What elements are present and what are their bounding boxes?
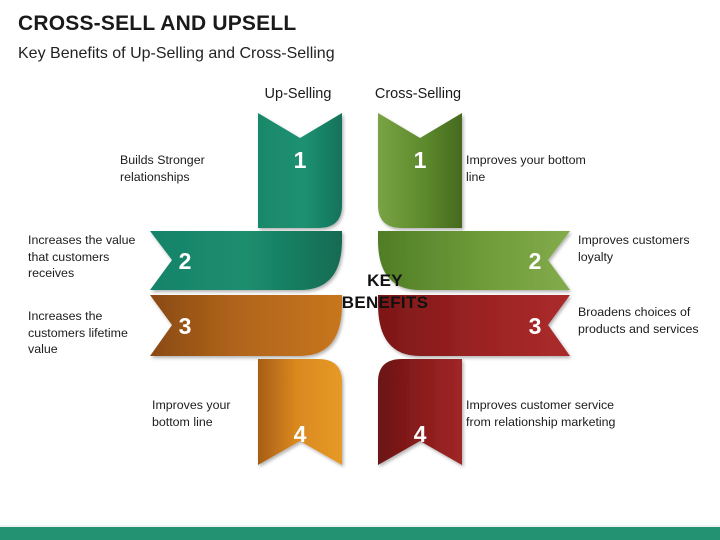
left-shape-1[interactable]: 1 <box>258 113 342 228</box>
right-label-3: Broadens choices of products and service… <box>578 304 703 337</box>
right-number-3: 3 <box>529 313 542 339</box>
right-shape-1[interactable]: 1 <box>378 113 462 228</box>
left-shape-2[interactable]: 2 <box>150 231 342 290</box>
left-label-3: Increases the customers lifetime value <box>28 308 148 358</box>
left-shape-3[interactable]: 3 <box>150 295 342 356</box>
center-label-line2: BENEFITS <box>330 292 440 314</box>
left-label-1: Builds Stronger relationships <box>120 152 250 185</box>
right-number-2: 2 <box>529 248 542 274</box>
right-shape-4[interactable]: 4 <box>378 359 462 465</box>
left-label-2: Increases the value that customers recei… <box>28 232 153 282</box>
left-number-3: 3 <box>179 313 192 339</box>
right-label-2: Improves customers loyalty <box>578 232 703 265</box>
center-label-line1: KEY <box>330 270 440 292</box>
left-number-1: 1 <box>294 147 307 173</box>
right-number-4: 4 <box>414 421 427 447</box>
left-number-2: 2 <box>179 248 192 274</box>
center-label: KEY BENEFITS <box>330 270 440 314</box>
footer-accent-bar <box>0 527 720 540</box>
right-label-1: Improves your bottom line <box>466 152 596 185</box>
right-label-4: Improves customer service from relations… <box>466 397 626 430</box>
left-label-4: Improves your bottom line <box>152 397 262 430</box>
left-shape-4[interactable]: 4 <box>258 359 342 465</box>
left-number-4: 4 <box>294 421 307 447</box>
slide-canvas: CROSS-SELL AND UPSELL Key Benefits of Up… <box>0 0 720 540</box>
right-number-1: 1 <box>414 147 427 173</box>
